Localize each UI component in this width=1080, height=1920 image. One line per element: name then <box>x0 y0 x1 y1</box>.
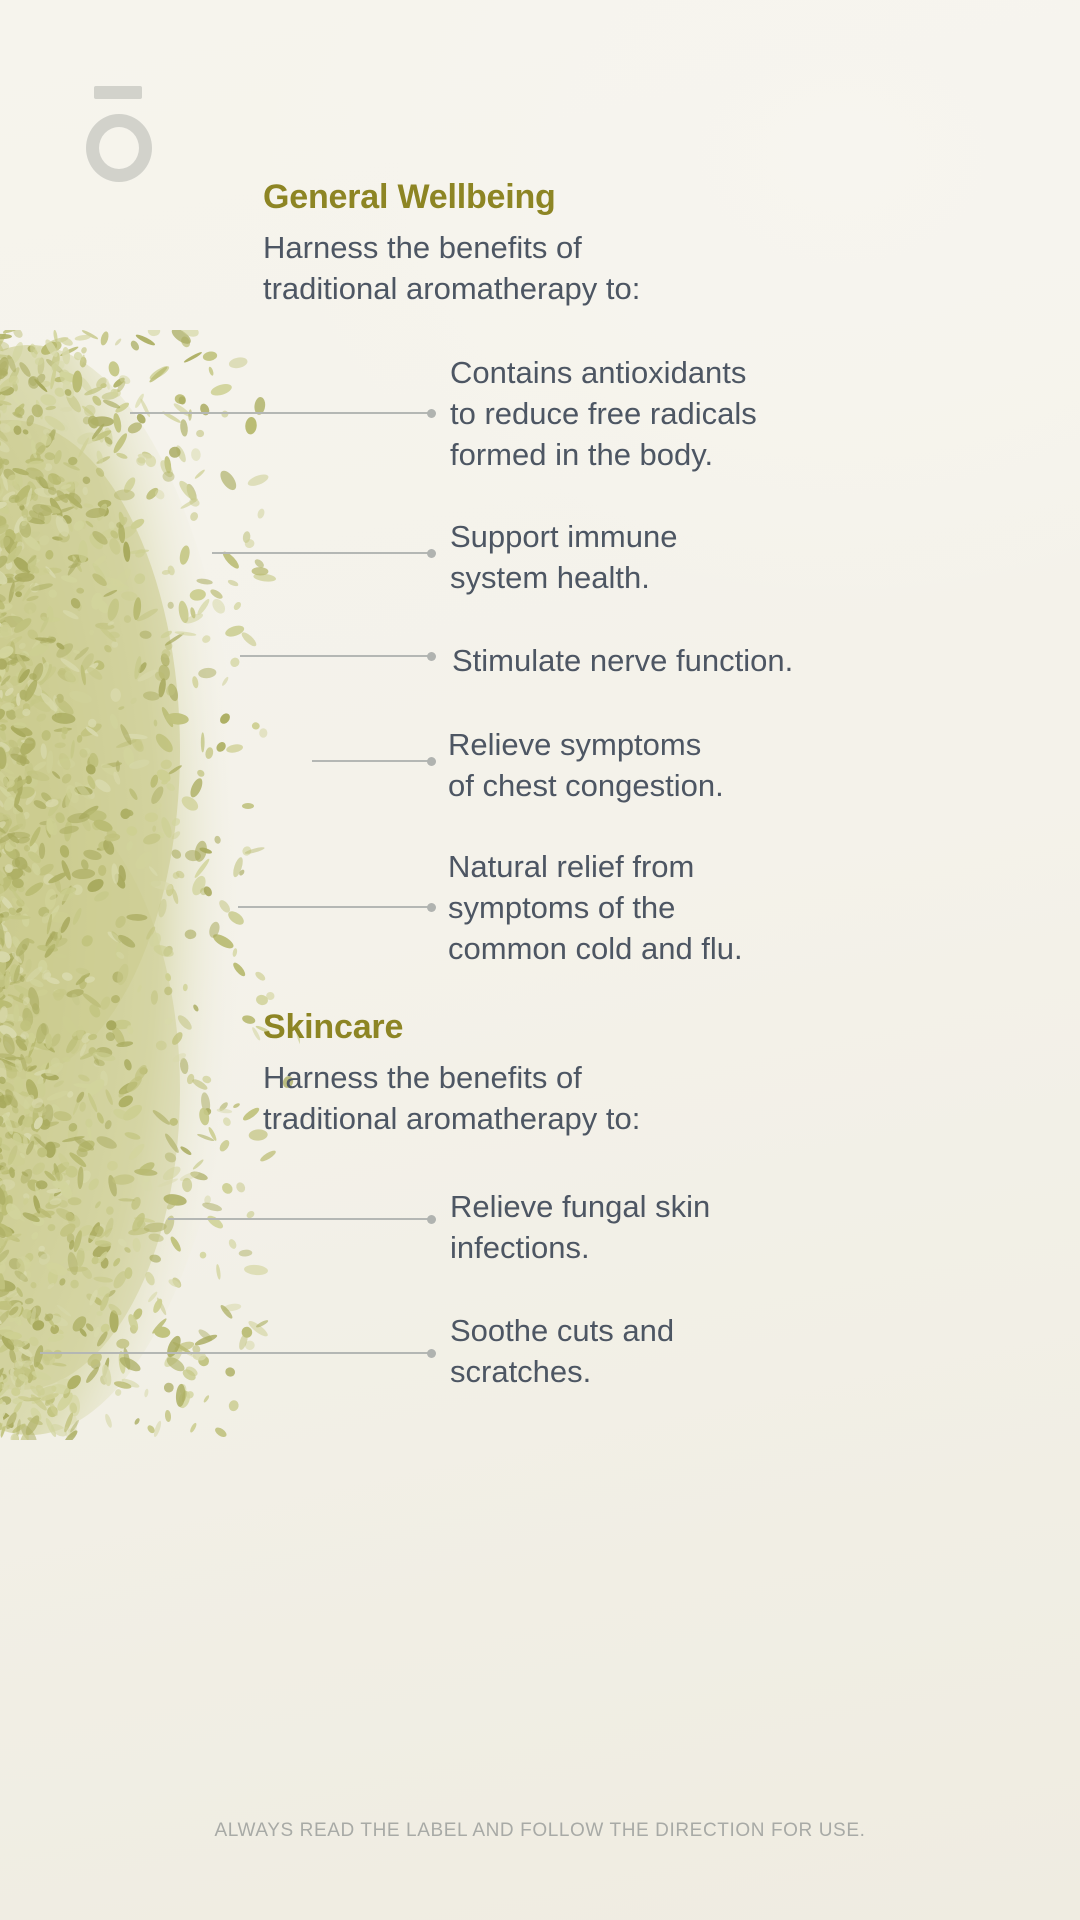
benefit-line: scratches. <box>450 1351 850 1392</box>
connector-line-6 <box>168 1218 432 1220</box>
benefit-line: Contains antioxidants <box>450 352 850 393</box>
benefit-line: to reduce free radicals <box>450 393 850 434</box>
connector-line-4 <box>312 760 432 762</box>
subheading-line: Harness the benefits of <box>263 228 733 269</box>
connector-line-1 <box>130 412 432 414</box>
benefit-line: Natural relief from <box>448 846 868 887</box>
benefit-line: of chest congestion. <box>448 765 848 806</box>
o-macron-logo <box>86 78 152 182</box>
oregano-herb-image <box>0 330 300 1440</box>
benefit-line: infections. <box>450 1227 850 1268</box>
benefit-item-3: Stimulate nerve function. <box>452 640 872 681</box>
subheading-line: traditional aromatherapy to: <box>263 269 733 310</box>
connector-line-2 <box>212 552 432 554</box>
section-subheading-general-wellbeing: Harness the benefits of traditional arom… <box>263 228 733 310</box>
herb-illustration <box>0 330 300 1440</box>
label-disclaimer: ALWAYS READ THE LABEL AND FOLLOW THE DIR… <box>0 1820 1080 1842</box>
benefit-line: common cold and flu. <box>448 928 868 969</box>
benefit-item-7: Soothe cuts and scratches. <box>450 1310 850 1392</box>
section-subheading-skincare: Harness the benefits of traditional arom… <box>263 1058 733 1140</box>
logo-o-ring <box>86 114 152 182</box>
benefit-line: Relieve fungal skin <box>450 1186 850 1227</box>
connector-line-7 <box>40 1352 432 1354</box>
benefit-line: system health. <box>450 557 850 598</box>
benefit-item-1: Contains antioxidants to reduce free rad… <box>450 352 850 476</box>
subheading-line: Harness the benefits of <box>263 1058 733 1099</box>
benefit-line: Relieve symptoms <box>448 724 848 765</box>
connector-line-5 <box>238 906 432 908</box>
logo-macron-bar <box>94 86 142 99</box>
benefit-item-5: Natural relief from symptoms of the comm… <box>448 846 868 970</box>
benefit-line: Soothe cuts and <box>450 1310 850 1351</box>
benefit-line: Stimulate nerve function. <box>452 640 872 681</box>
section-heading-skincare: Skincare <box>263 1008 403 1047</box>
benefit-line: Support immune <box>450 516 850 557</box>
benefit-item-2: Support immune system health. <box>450 516 850 598</box>
subheading-line: traditional aromatherapy to: <box>263 1099 733 1140</box>
section-heading-general-wellbeing: General Wellbeing <box>263 178 556 217</box>
infographic-page: General Wellbeing Harness the benefits o… <box>0 0 1080 1920</box>
connector-line-3 <box>240 655 432 657</box>
benefit-line: symptoms of the <box>448 887 868 928</box>
benefit-item-6: Relieve fungal skin infections. <box>450 1186 850 1268</box>
benefit-line: formed in the body. <box>450 434 850 475</box>
benefit-item-4: Relieve symptoms of chest congestion. <box>448 724 848 806</box>
